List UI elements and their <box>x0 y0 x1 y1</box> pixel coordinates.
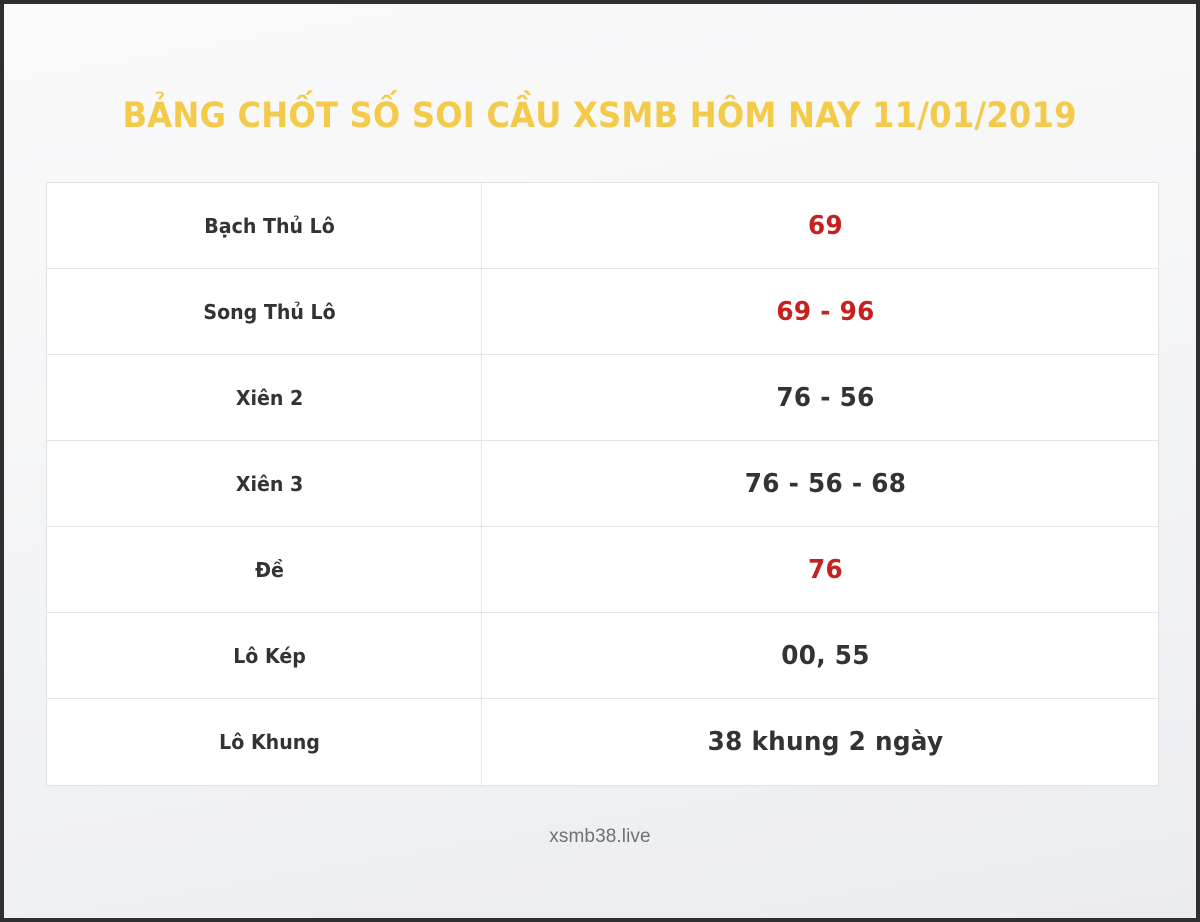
site-watermark: xsmb38.live <box>4 826 1196 848</box>
row-label: Xiên 3 <box>58 441 482 526</box>
row-label: Đề <box>58 527 482 612</box>
result-sheet: BẢNG CHỐT SỐ SOI CẦU XSMB HÔM NAY 11/01/… <box>4 4 1196 918</box>
row-value: 76 - 56 - 68 <box>510 441 1142 526</box>
prediction-table: Bạch Thủ Lô69Song Thủ Lô69 - 96Xiên 276 … <box>46 182 1159 786</box>
row-label: Lô Kép <box>58 613 482 698</box>
table-row: Bạch Thủ Lô69 <box>47 183 1158 269</box>
page-title: BẢNG CHỐT SỐ SOI CẦU XSMB HÔM NAY 11/01/… <box>123 99 1077 134</box>
image-frame: BẢNG CHỐT SỐ SOI CẦU XSMB HÔM NAY 11/01/… <box>0 0 1200 922</box>
row-label: Xiên 2 <box>58 355 482 440</box>
row-value: 00, 55 <box>510 613 1142 698</box>
row-value: 76 - 56 <box>510 355 1142 440</box>
table-row: Song Thủ Lô69 - 96 <box>47 269 1158 355</box>
table-row: Đề76 <box>47 527 1158 613</box>
row-value: 76 <box>510 527 1142 612</box>
row-label: Song Thủ Lô <box>58 269 482 354</box>
row-label: Lô Khung <box>58 699 482 785</box>
table-row: Lô Khung38 khung 2 ngày <box>47 699 1158 785</box>
row-value: 69 - 96 <box>510 269 1142 354</box>
table-row: Xiên 276 - 56 <box>47 355 1158 441</box>
row-label: Bạch Thủ Lô <box>58 183 482 268</box>
table-row: Lô Kép00, 55 <box>47 613 1158 699</box>
table-row: Xiên 376 - 56 - 68 <box>47 441 1158 527</box>
row-value: 38 khung 2 ngày <box>510 699 1142 785</box>
row-value: 69 <box>510 183 1142 268</box>
